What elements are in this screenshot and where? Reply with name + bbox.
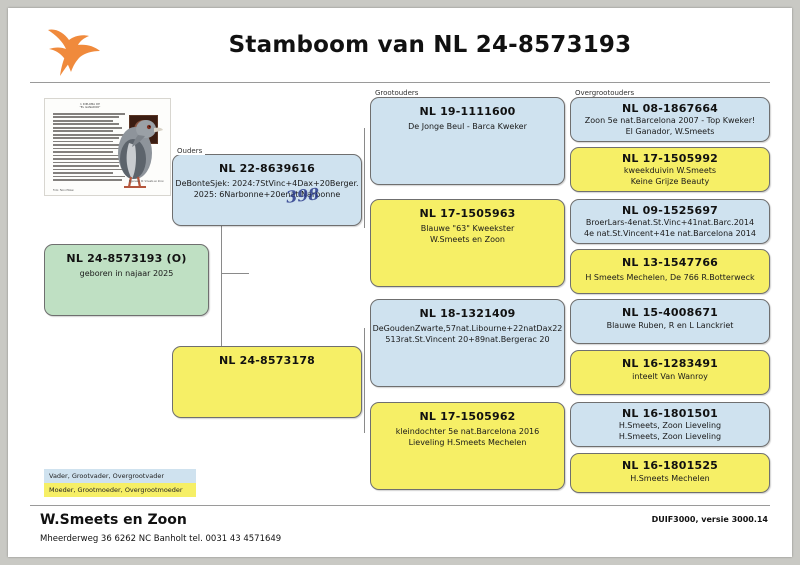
grandparent-3-line-2: 513rat.St.Vincent 20+89nat.Bergerac 20 <box>371 335 564 346</box>
grandparent-4-line-2: Lieveling H.Smeets Mechelen <box>371 438 564 449</box>
parent-box-mother[interactable]: NL 24-8573178 <box>172 346 362 418</box>
grandparent-box-4[interactable]: NL 17-1505962 kleindochter 5e nat.Barcel… <box>370 402 565 490</box>
connector <box>364 328 365 433</box>
grandparent-2-ring: NL 17-1505963 <box>371 207 564 220</box>
ggp-7-ring: NL 16-1801501 <box>571 407 769 420</box>
greatgrandparent-box-6[interactable]: NL 16-1283491 inteelt Van Wanroy <box>570 350 770 395</box>
subject-box[interactable]: NL 24-8573193 (O) geboren in najaar 2025 <box>44 244 209 316</box>
caption-parents: Ouders <box>174 147 205 155</box>
certificate-title: 1 DIPLOMA DE "EL GANADOR" <box>59 103 121 110</box>
grandparent-4-line-1: kleindochter 5e nat.Barcelona 2016 <box>371 427 564 438</box>
ggp-1-ring: NL 08-1867664 <box>571 102 769 115</box>
grandparent-3-ring: NL 18-1321409 <box>371 307 564 320</box>
ggp-6-line-1: inteelt Van Wanroy <box>571 372 769 383</box>
greatgrandparent-box-1[interactable]: NL 08-1867664 Zoon 5e nat.Barcelona 2007… <box>570 97 770 142</box>
ggp-1-line-1: Zoon 5e nat.Barcelona 2007 - Top Kweker! <box>571 116 769 127</box>
photo-credit: Foto: Falco Ebben <box>53 189 74 192</box>
greatgrandparent-box-7[interactable]: NL 16-1801501 H.Smeets, Zoon Lieveling H… <box>570 402 770 447</box>
parent-father-line-2: 2025: 6Narbonne+20enat.Narbonne <box>173 190 361 201</box>
ggp-3-line-2: 4e nat.St.Vincent+41e nat.Barcelona 2014 <box>571 229 769 240</box>
software-version: DUIF3000, versie 3000.14 <box>652 515 768 524</box>
greatgrandparent-box-5[interactable]: NL 15-4008671 Blauwe Ruben, R en L Lanck… <box>570 299 770 344</box>
ggp-2-ring: NL 17-1505992 <box>571 152 769 165</box>
caption-greatgrandparents: Overgrootouders <box>572 89 637 97</box>
grandparent-4-ring: NL 17-1505962 <box>371 410 564 423</box>
pedigree-page: Stamboom van NL 24-8573193 1 DIPLOMA DE … <box>8 8 792 557</box>
legend-female: Moeder, Grootmoeder, Overgrootmoeder <box>44 483 196 497</box>
grandparent-3-line-1: DeGoudenZwarte,57nat.Libourne+22natDax22 <box>371 324 564 335</box>
caption-grandparents: Grootouders <box>372 89 421 97</box>
page-title: Stamboom van NL 24-8573193 <box>180 32 680 58</box>
parent-father-line-1: DeBonteSjek: 2024:7StVinc+4Dax+20Berger. <box>173 179 361 190</box>
parent-father-ring: NL 22-8639616 <box>173 162 361 175</box>
owner-address: Mheerderweg 36 6262 NC Banholt tel. 0031… <box>40 534 281 544</box>
flying-dove-icon <box>42 24 104 78</box>
grandparent-box-1[interactable]: NL 19-1111600 De Jonge Beul - Barca Kwek… <box>370 97 565 185</box>
greatgrandparent-box-2[interactable]: NL 17-1505992 kweekduivin W.Smeets Keine… <box>570 147 770 192</box>
greatgrandparent-box-8[interactable]: NL 16-1801525 H.Smeets Mechelen <box>570 453 770 493</box>
ggp-7-line-2: H.Smeets, Zoon Lieveling <box>571 432 769 443</box>
parent-box-father[interactable]: NL 22-8639616 DeBonteSjek: 2024:7StVinc+… <box>172 154 362 226</box>
grandparent-1-ring: NL 19-1111600 <box>371 105 564 118</box>
legend-male: Vader, Grootvader, Overgrootvader <box>44 469 196 483</box>
ggp-6-ring: NL 16-1283491 <box>571 357 769 370</box>
connector <box>364 128 365 228</box>
ggp-3-line-1: BroerLars-4enat.St.Vinc+41nat.Barc.2014 <box>571 218 769 229</box>
ggp-4-ring: NL 13-1547766 <box>571 256 769 269</box>
ggp-7-line-1: H.Smeets, Zoon Lieveling <box>571 421 769 432</box>
subject-ring: NL 24-8573193 (O) <box>45 252 208 265</box>
ggp-4-line-1: H Smeets Mechelen, De 766 R.Botterweck <box>571 273 769 284</box>
grandparent-box-3[interactable]: NL 18-1321409 DeGoudenZwarte,57nat.Libou… <box>370 299 565 387</box>
connector <box>221 273 249 274</box>
ggp-1-line-2: El Ganador, W.Smeets <box>571 127 769 138</box>
owner-name: W.Smeets en Zoon <box>40 512 187 528</box>
page-header: Stamboom van NL 24-8573193 <box>30 20 770 83</box>
grandparent-1-line-1: De Jonge Beul - Barca Kweker <box>371 122 564 133</box>
ggp-3-ring: NL 09-1525697 <box>571 204 769 217</box>
legend: Vader, Grootvader, Overgrootvader Moeder… <box>44 469 196 497</box>
ggp-8-ring: NL 16-1801525 <box>571 459 769 472</box>
ggp-5-line-1: Blauwe Ruben, R en L Lanckriet <box>571 321 769 332</box>
ggp-5-ring: NL 15-4008671 <box>571 306 769 319</box>
ggp-2-line-1: kweekduivin W.Smeets <box>571 166 769 177</box>
grandparent-2-line-2: W.Smeets en Zoon <box>371 235 564 246</box>
grandparent-box-2[interactable]: NL 17-1505963 Blauwe "63" Kweekster W.Sm… <box>370 199 565 287</box>
parent-mother-ring: NL 24-8573178 <box>173 354 361 367</box>
greatgrandparent-box-3[interactable]: NL 09-1525697 BroerLars-4enat.St.Vinc+41… <box>570 199 770 244</box>
greatgrandparent-box-4[interactable]: NL 13-1547766 H Smeets Mechelen, De 766 … <box>570 249 770 294</box>
ggp-2-line-2: Keine Grijze Beauty <box>571 177 769 188</box>
page-footer: W.Smeets en Zoon Mheerderweg 36 6262 NC … <box>30 505 770 506</box>
subject-line-1: geboren in najaar 2025 <box>45 269 208 280</box>
photo-owner-signature: Eigenaar: W. Smeets en Zoon <box>129 180 164 183</box>
pigeon-photo-card: 1 DIPLOMA DE "EL GANADOR" Foto: Falco Eb… <box>44 98 171 196</box>
grandparent-2-line-1: Blauwe "63" Kweekster <box>371 224 564 235</box>
ggp-8-line-1: H.Smeets Mechelen <box>571 474 769 485</box>
